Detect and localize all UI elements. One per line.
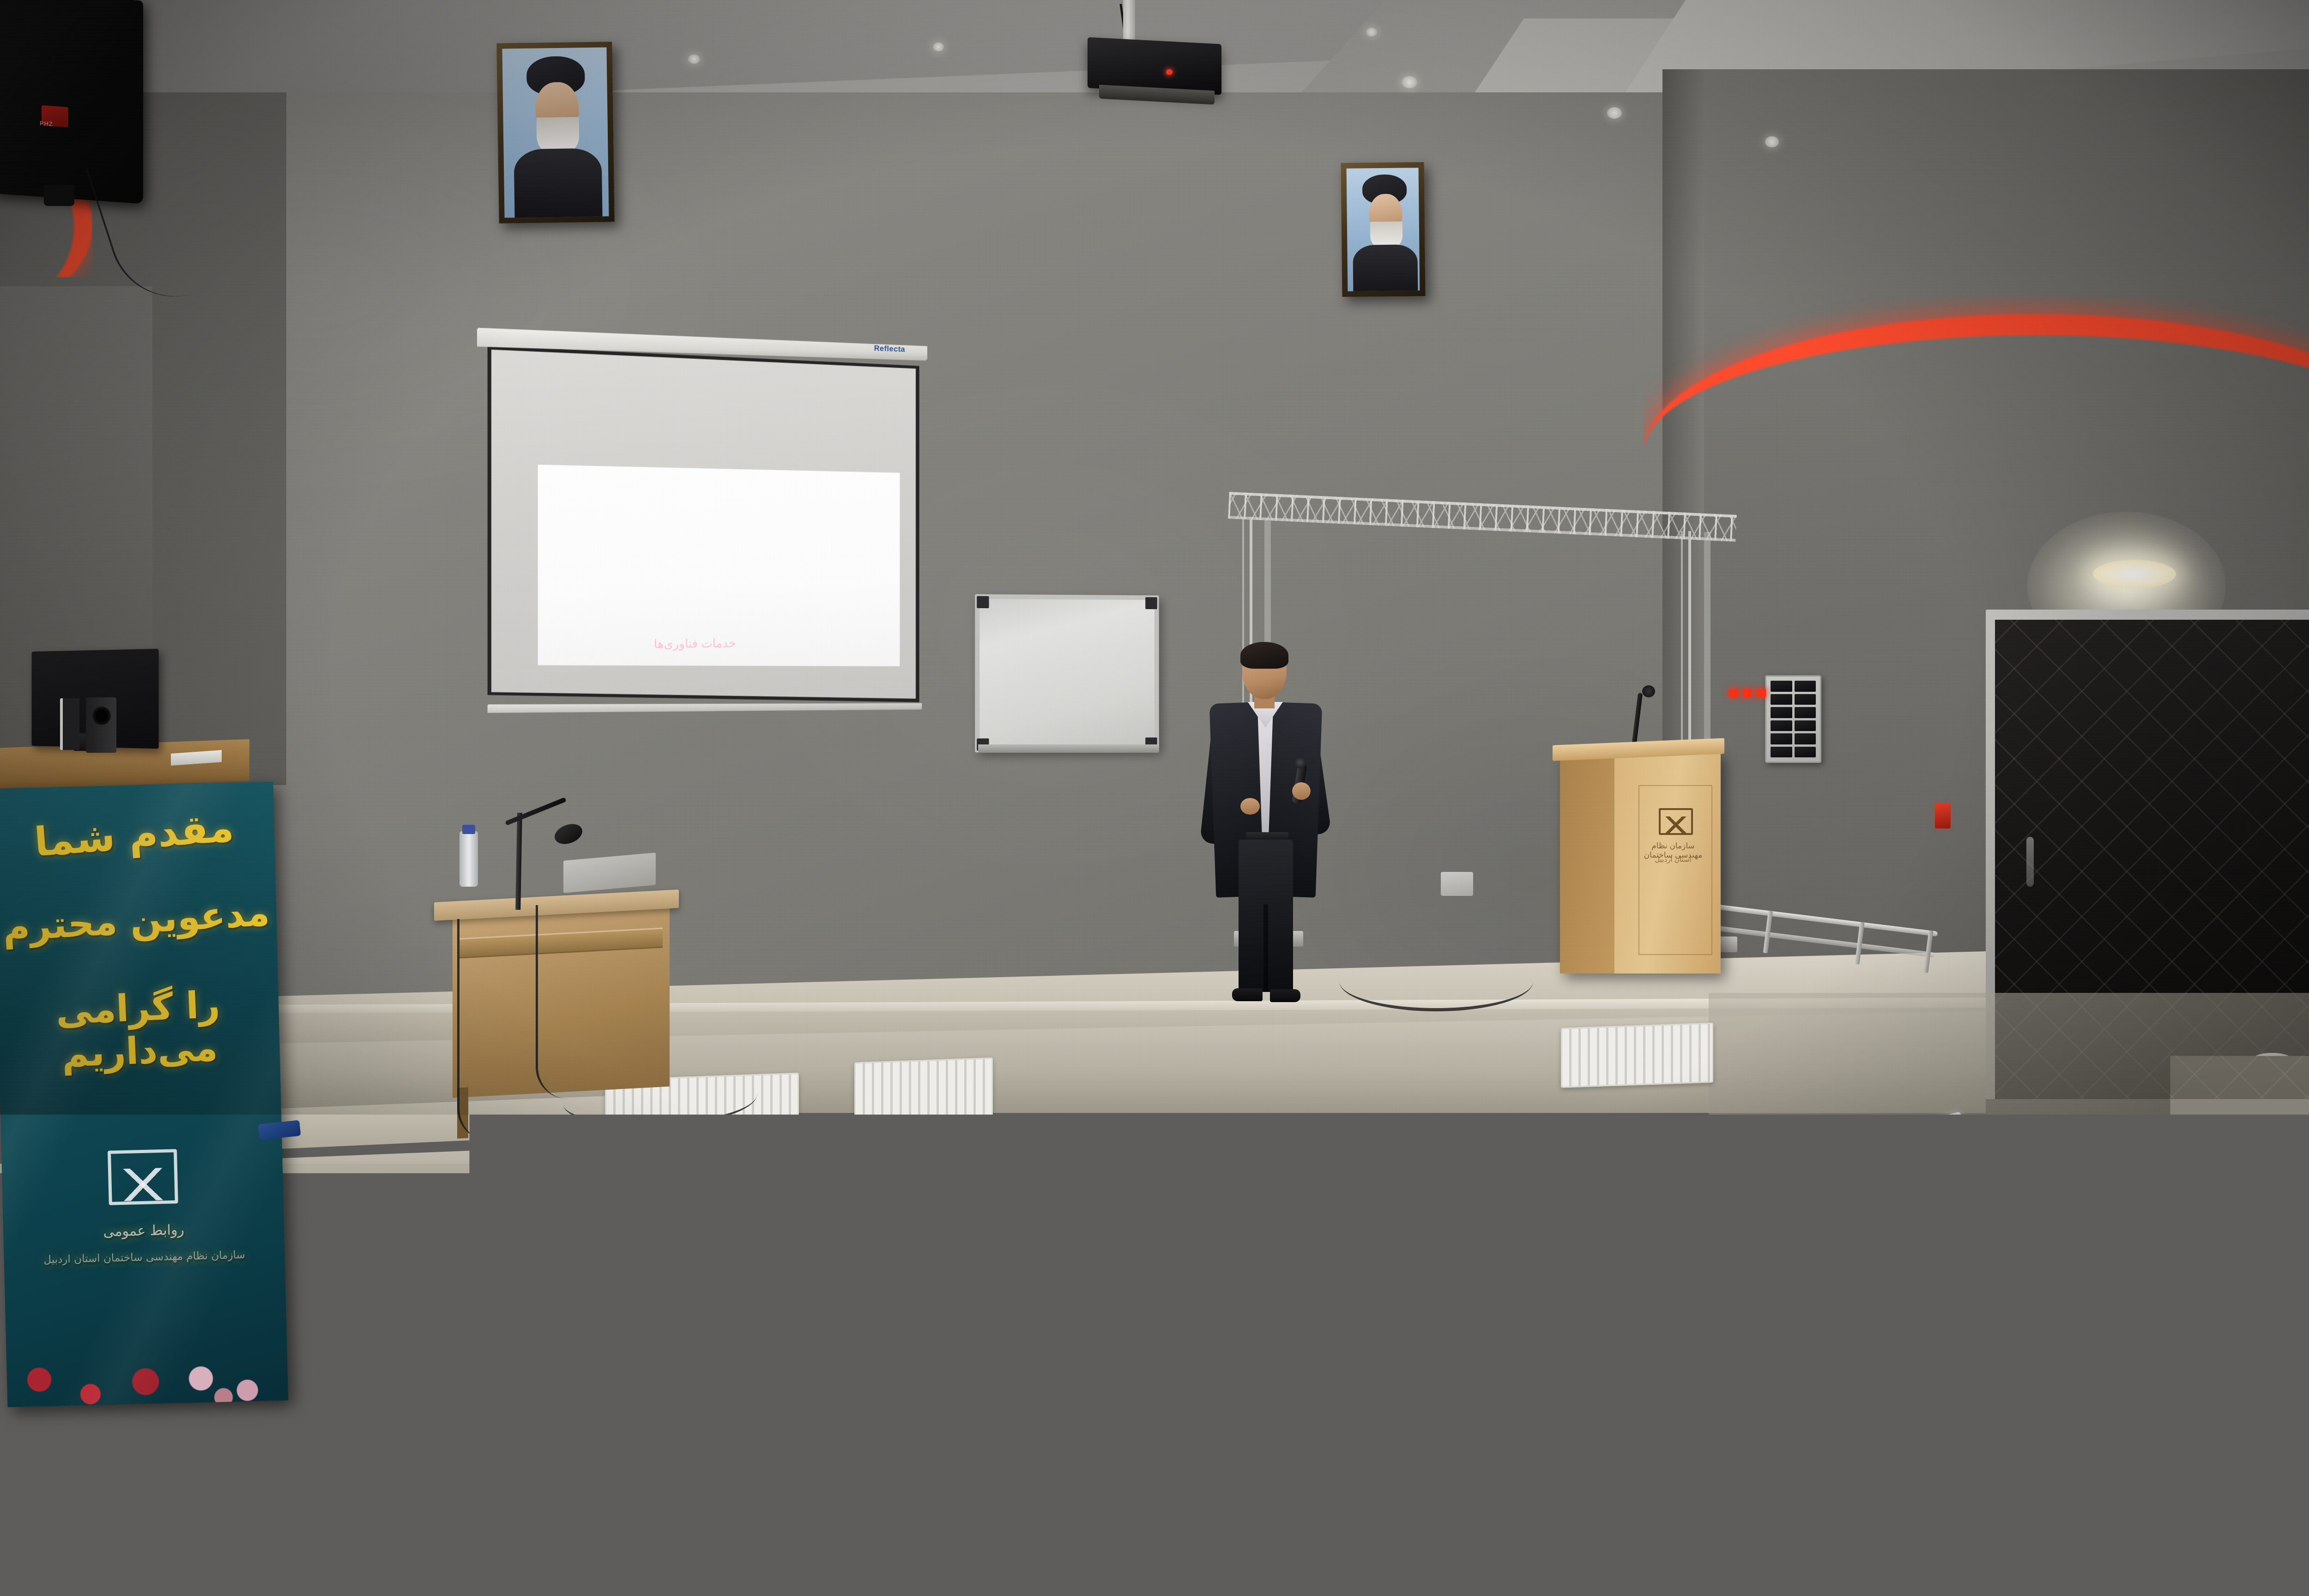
downlight (1765, 136, 1779, 147)
camera-unit (86, 697, 116, 753)
light-switch[interactable] (1795, 694, 1816, 705)
downlight (1607, 107, 1622, 119)
audience-head (2198, 1307, 2300, 1399)
light-switch[interactable] (1795, 707, 1816, 718)
auditorium-photograph: PHZ خدمات فناوری‌ها Reflecta (0, 0, 2309, 1596)
whiteboard (975, 594, 1159, 753)
water-bottle (459, 831, 478, 887)
presenter-hair (1240, 642, 1288, 669)
audience-head (1696, 1154, 1754, 1210)
audience-head-foreground (1178, 1325, 1284, 1427)
projector-power-led-icon (1166, 69, 1173, 75)
presenter-hand-left (1240, 798, 1260, 815)
presenter (1196, 646, 1335, 1010)
projection-screen: خدمات فناوری‌ها Reflecta (477, 328, 927, 719)
light-switch[interactable] (1771, 747, 1792, 758)
projector-mount-pole (1123, 0, 1135, 42)
water-bottle-cap (462, 825, 475, 834)
audience-head-white-hair (2230, 1053, 2309, 1136)
light-switch[interactable] (1795, 720, 1816, 731)
downlight (1402, 76, 1417, 88)
fire-alarm-call-point[interactable] (1935, 804, 1951, 828)
portrait-ayatollah-khomeini (496, 42, 614, 223)
wall-socket-plate (1441, 872, 1473, 896)
audience-head-foreground (1362, 1279, 1487, 1399)
podium-side-panel (1560, 752, 1614, 973)
light-switch[interactable] (1771, 694, 1792, 705)
pa-speaker-bracket (44, 185, 74, 206)
door-handle[interactable] (2026, 837, 2034, 887)
light-switch[interactable] (1771, 681, 1792, 692)
light-switch[interactable] (1771, 733, 1792, 744)
light-switch[interactable] (1795, 681, 1816, 692)
podium-microphone-head-icon (1642, 685, 1655, 697)
screen-brand-label: Reflecta (874, 344, 923, 355)
light-switch[interactable] (1795, 733, 1816, 744)
presenter-leg-gap (1263, 904, 1268, 992)
audience-head (1524, 1201, 1598, 1270)
status-led-indicator (1729, 687, 1771, 698)
podium-region-label: استان اردبیل (1643, 855, 1703, 864)
wall-lamp (2093, 560, 2176, 588)
audience-member-white-hair (2198, 1122, 2309, 1242)
audience-head (1127, 1187, 1205, 1261)
slide-text: خدمات فناوری‌ها (595, 635, 793, 652)
audience-head-grey (545, 1215, 626, 1291)
seated-audience (0, 984, 2309, 1596)
light-switch-panel[interactable] (1765, 675, 1821, 763)
light-switch[interactable] (1771, 707, 1792, 718)
audience-head (2000, 1122, 2069, 1187)
podium-logo-chevron-icon (1662, 816, 1689, 833)
audience-member-red-jacket (2161, 1367, 2309, 1596)
light-switch[interactable] (1795, 747, 1816, 758)
audience-member (1940, 1399, 2161, 1596)
audience-head-bald (420, 1251, 503, 1330)
presenter-hand-right (1292, 782, 1311, 800)
whiteboard-marker-tray (978, 744, 1159, 753)
audience-head-grey (1381, 1164, 1450, 1228)
auditorium-seat-row (379, 1427, 794, 1596)
downlight (933, 42, 944, 51)
portrait-image (1347, 168, 1420, 291)
downlight (688, 54, 700, 64)
audience-head (734, 1247, 815, 1323)
camera-body (60, 698, 79, 750)
portrait-image (502, 47, 609, 218)
light-switch[interactable] (1771, 720, 1792, 731)
audience-member (1626, 1279, 1764, 1399)
seat-armrest (767, 1413, 924, 1445)
downlight (1366, 28, 1377, 36)
audience-head (1778, 1168, 1847, 1233)
audience-head (942, 1224, 1025, 1302)
red-cove-light-right (1644, 296, 2309, 448)
camera-lens-icon (92, 707, 111, 725)
handheld-microphone-head-icon (1294, 756, 1306, 768)
audience-member-foreground (1118, 1399, 1339, 1596)
portrait-ayatollah-khamenei (1341, 162, 1425, 297)
